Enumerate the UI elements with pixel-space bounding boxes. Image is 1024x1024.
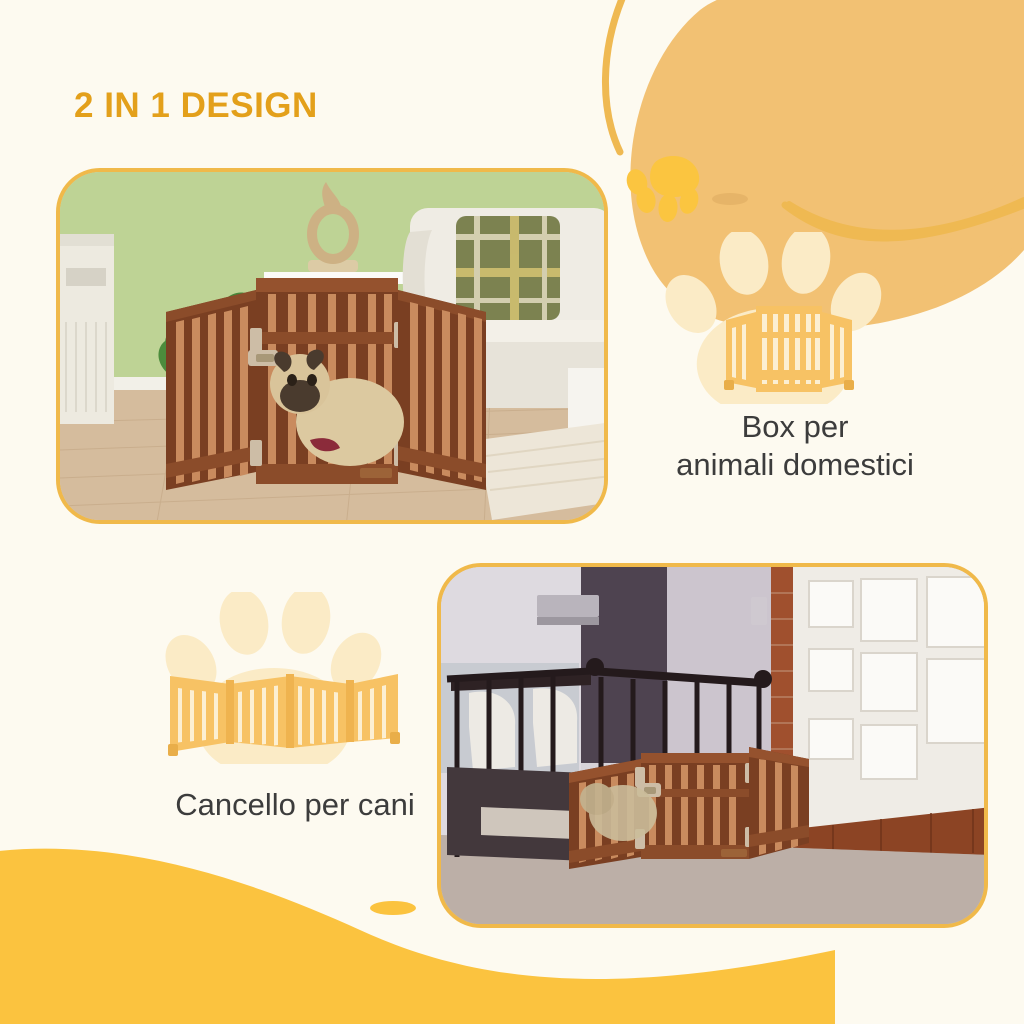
top-left-swoosh-line: [605, 0, 624, 152]
paw-playpen-svg: [650, 232, 940, 404]
paw-with-hexagon-playpen-icon: [650, 232, 940, 404]
product-infographic: 2 IN 1 DESIGN: [0, 0, 1024, 1024]
gate-staircase-scene-illustration: [441, 567, 984, 924]
bottom-yellow-lens-accent: [370, 901, 416, 915]
feature-label-pet-playpen: Box per animali domestici: [630, 408, 960, 484]
secondary-swoosh-line: [789, 200, 1024, 233]
playpen-scene-illustration: [60, 172, 604, 520]
paw-gate-svg: [150, 592, 440, 764]
feature-label-dog-gate: Cancello per cani: [130, 786, 460, 824]
photo-playpen-living-room: [56, 168, 608, 524]
paw-with-folding-gate-icon: [150, 592, 440, 764]
hexagon-playpen-glyph: [724, 306, 854, 392]
folding-gate-glyph: [168, 674, 400, 756]
page-title: 2 IN 1 DESIGN: [74, 86, 318, 126]
small-amber-ellipse: [712, 193, 748, 205]
photo-gate-staircase: [437, 563, 988, 928]
feature-dog-gate: Cancello per cani: [130, 592, 460, 824]
plaid-cushion: [456, 216, 560, 320]
gold-paw-accent: [623, 156, 701, 223]
feature-pet-playpen: Box per animali domestici: [630, 232, 960, 484]
